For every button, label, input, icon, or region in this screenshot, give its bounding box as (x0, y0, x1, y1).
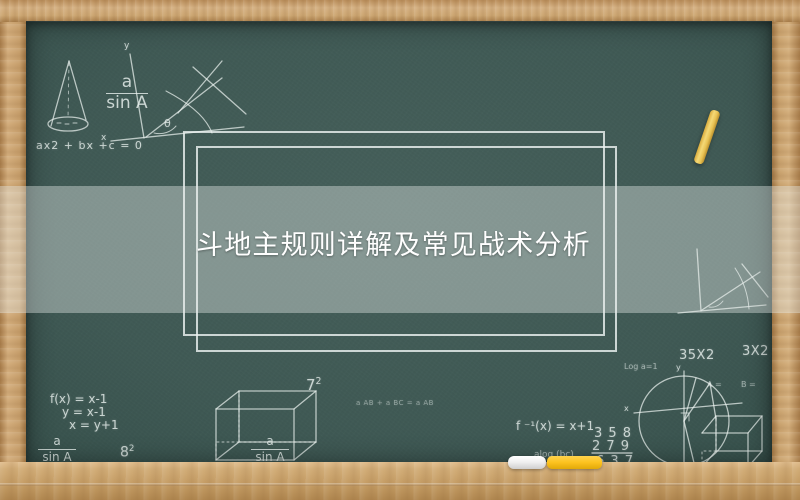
chalk-tray-lip (0, 483, 800, 486)
page-title: 斗地主规则详解及常见战术分析 (196, 228, 756, 262)
chalkboard-banner: a sin A ax2 + bx +c = 0 y x θ f(x) = x-1… (0, 0, 800, 500)
yellow-chalk-in-tray[interactable] (547, 456, 602, 469)
chalk-tray (0, 462, 800, 500)
frame-top-rail (0, 0, 800, 22)
white-chalk-in-tray[interactable] (508, 456, 546, 469)
